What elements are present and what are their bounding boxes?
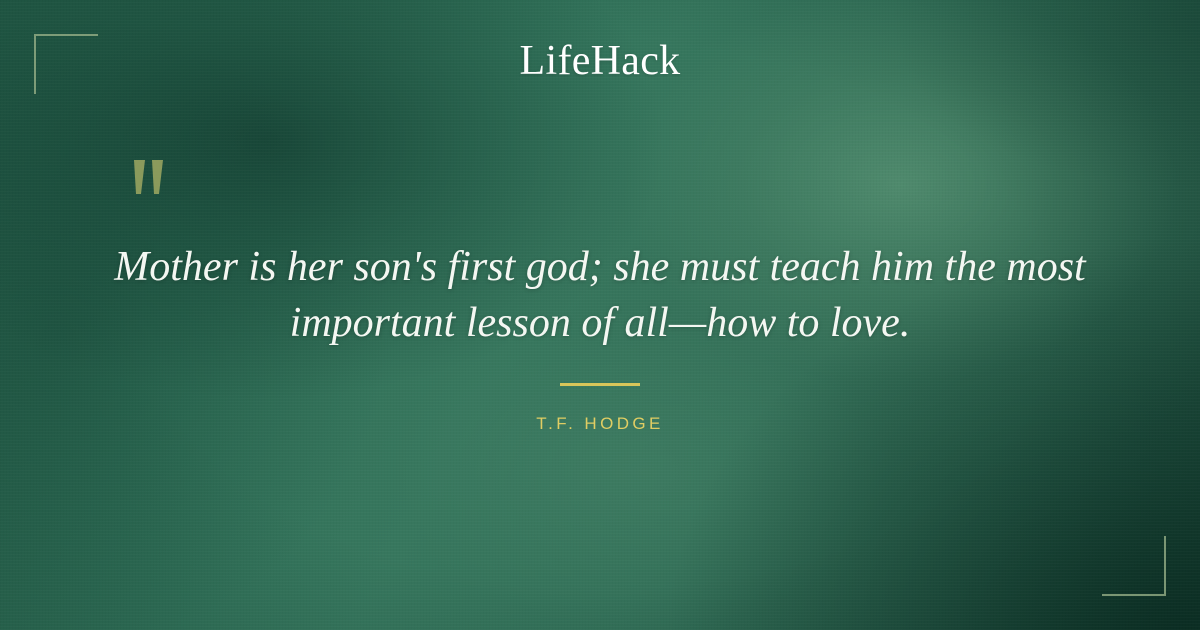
quote-author: T.F. HODGE <box>0 414 1200 434</box>
quote-card-canvas: LifeHack Mother is her son's first god; … <box>0 0 1200 630</box>
gold-divider-rule <box>560 383 640 386</box>
corner-bracket-bottom-right-icon <box>1102 536 1166 596</box>
lifehack-logo: LifeHack <box>0 38 1200 84</box>
quotation-mark-icon <box>128 156 176 208</box>
quote-body-text: Mother is her son's first god; she must … <box>110 240 1090 352</box>
